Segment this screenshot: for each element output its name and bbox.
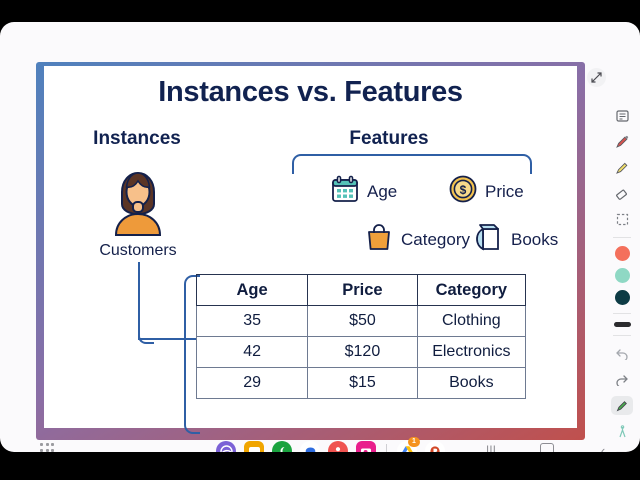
notification-badge: 1 bbox=[408, 437, 420, 447]
redo-icon[interactable] bbox=[611, 370, 633, 389]
google-drive-app[interactable]: 1 bbox=[397, 441, 417, 452]
customers-label: Customers bbox=[72, 242, 204, 260]
data-table: Age Price Category 35 $50 Clothing 42 bbox=[196, 274, 526, 399]
toolbar-divider bbox=[613, 335, 631, 336]
table-header-row: Age Price Category bbox=[197, 275, 526, 306]
calendar-icon bbox=[330, 174, 360, 209]
drawing-toolbar[interactable]: aI bbox=[608, 106, 636, 452]
table-header-cell: Category bbox=[417, 275, 525, 306]
book-bag-icon bbox=[474, 222, 504, 257]
table-cell: $15 bbox=[308, 368, 417, 399]
presentation-slide-frame[interactable]: Instances vs. Features Instances Feature… bbox=[36, 62, 585, 440]
stroke-thickness-bar[interactable] bbox=[614, 322, 631, 327]
apps-grid-icon[interactable] bbox=[40, 443, 55, 452]
person-avatar-icon bbox=[109, 162, 167, 236]
svg-text:$: $ bbox=[460, 183, 467, 197]
gallery-app[interactable] bbox=[244, 441, 264, 452]
compass-icon[interactable] bbox=[611, 422, 633, 441]
feature-label: Age bbox=[367, 182, 397, 202]
table-row: 35 $50 Clothing bbox=[197, 306, 526, 337]
shopping-bag-icon bbox=[364, 222, 394, 257]
instances-heading: Instances bbox=[62, 128, 212, 150]
color-coral[interactable] bbox=[615, 246, 630, 261]
color-mint[interactable] bbox=[615, 268, 630, 283]
recents-button[interactable]: ||| bbox=[482, 441, 500, 452]
feature-label: Books bbox=[511, 230, 558, 250]
marker-pen-icon[interactable] bbox=[611, 396, 633, 415]
color-navy[interactable] bbox=[615, 290, 630, 305]
sticky-note-icon[interactable] bbox=[611, 106, 633, 125]
select-icon[interactable] bbox=[611, 210, 633, 229]
table-header-cell: Price bbox=[308, 275, 417, 306]
feature-item-category: Category bbox=[364, 222, 470, 257]
table-cell: Books bbox=[417, 368, 525, 399]
connector-elbow bbox=[138, 328, 154, 344]
table-cell: $50 bbox=[308, 306, 417, 337]
undo-icon[interactable] bbox=[611, 344, 633, 363]
feature-label: Category bbox=[401, 230, 470, 250]
feature-item-price: $ Price bbox=[448, 174, 524, 209]
eraser-icon[interactable] bbox=[611, 184, 633, 203]
dollar-coin-icon: $ bbox=[448, 174, 478, 209]
table-row: 29 $15 Books bbox=[197, 368, 526, 399]
powerpoint-app[interactable] bbox=[425, 441, 445, 452]
features-bracket bbox=[292, 154, 532, 174]
toolbar-divider bbox=[613, 313, 631, 314]
camera-app[interactable] bbox=[356, 441, 376, 452]
contacts-app[interactable] bbox=[328, 441, 348, 452]
browser-app[interactable] bbox=[216, 441, 236, 452]
android-nav-bar[interactable]: ||| ‹ bbox=[482, 441, 612, 452]
table-cell: 42 bbox=[197, 337, 308, 368]
table-header-cell: Age bbox=[197, 275, 308, 306]
table-row: 42 $120 Electronics bbox=[197, 337, 526, 368]
phone-app[interactable] bbox=[272, 441, 292, 452]
feature-item-age: Age bbox=[330, 174, 397, 209]
pen-icon[interactable] bbox=[611, 132, 633, 151]
back-button[interactable]: ‹ bbox=[594, 441, 612, 452]
home-button[interactable] bbox=[538, 441, 556, 452]
presentation-slide[interactable]: Instances vs. Features Instances Feature… bbox=[44, 66, 577, 428]
table-cell: Electronics bbox=[417, 337, 525, 368]
dock-divider bbox=[386, 444, 387, 452]
table-cell: 29 bbox=[197, 368, 308, 399]
device-viewport: Instances vs. Features Instances Feature… bbox=[0, 22, 640, 452]
taskbar-dock[interactable]: 1 bbox=[216, 441, 445, 452]
features-heading: Features bbox=[294, 128, 484, 150]
table-cell: $120 bbox=[308, 337, 417, 368]
highlighter-icon[interactable] bbox=[611, 158, 633, 177]
messages-app[interactable] bbox=[300, 441, 320, 452]
device-screen: Instances vs. Features Instances Feature… bbox=[0, 0, 640, 480]
expand-arrows-icon[interactable] bbox=[587, 68, 606, 87]
toolbar-divider bbox=[613, 237, 631, 238]
screen-bottom-bezel bbox=[0, 452, 640, 480]
table-cell: 35 bbox=[197, 306, 308, 337]
feature-label: Price bbox=[485, 182, 524, 202]
screen-top-bezel bbox=[0, 0, 640, 22]
table-cell: Clothing bbox=[417, 306, 525, 337]
feature-item-books: Books bbox=[474, 222, 558, 257]
page-title: Instances vs. Features bbox=[44, 76, 577, 109]
